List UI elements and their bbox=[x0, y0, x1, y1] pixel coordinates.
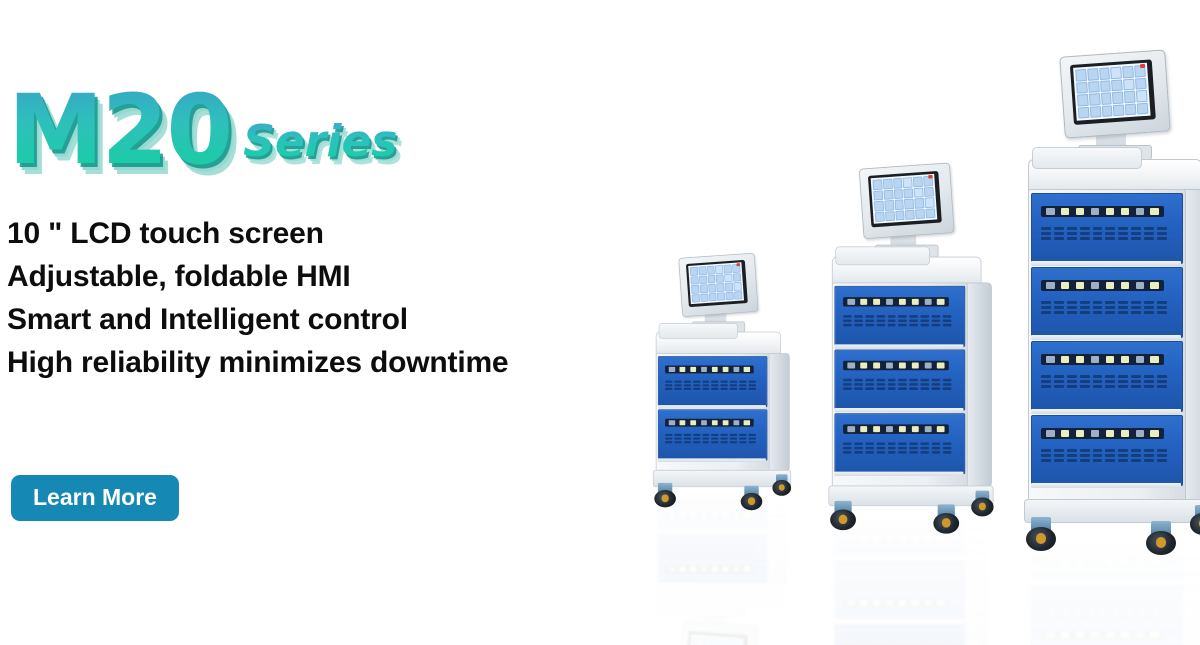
vent-hole bbox=[1093, 449, 1103, 452]
vent-hole bbox=[730, 502, 737, 504]
device-slot bbox=[1061, 356, 1069, 363]
keypad-key[interactable] bbox=[1090, 106, 1102, 118]
keypad-key[interactable] bbox=[690, 276, 698, 285]
vent-hole bbox=[932, 587, 941, 590]
vent-hole bbox=[910, 442, 919, 445]
vent-hole bbox=[702, 434, 709, 436]
drawer-rail bbox=[1031, 580, 1181, 585]
device-slot bbox=[1061, 557, 1069, 564]
keypad-key[interactable] bbox=[1100, 80, 1112, 92]
keypad-key[interactable] bbox=[716, 283, 724, 292]
vent-hole bbox=[1131, 459, 1141, 462]
ventilation-grid bbox=[843, 315, 951, 326]
keypad-key[interactable] bbox=[698, 266, 706, 275]
keypad-key[interactable] bbox=[709, 293, 717, 302]
vent-hole bbox=[1067, 454, 1077, 457]
vent-hole bbox=[887, 514, 896, 517]
device-slot bbox=[712, 367, 718, 372]
drawer-rail bbox=[658, 405, 766, 409]
keypad-key[interactable] bbox=[1111, 79, 1123, 91]
vent-hole bbox=[721, 552, 728, 554]
device-slot bbox=[912, 299, 919, 305]
vent-hole bbox=[1054, 227, 1064, 230]
device-slot bbox=[912, 363, 919, 369]
vent-hole bbox=[749, 441, 756, 443]
connector-strip bbox=[843, 534, 949, 543]
vent-hole bbox=[1118, 459, 1128, 462]
keypad-key[interactable] bbox=[708, 284, 716, 293]
ventilation-grid bbox=[665, 548, 756, 557]
vent-hole bbox=[1054, 606, 1064, 609]
vent-hole bbox=[749, 388, 756, 390]
vent-hole bbox=[865, 383, 874, 386]
vent-hole bbox=[712, 384, 719, 386]
charging-drawer[interactable] bbox=[1031, 193, 1183, 264]
keypad-key[interactable] bbox=[1076, 81, 1088, 93]
keypad-key[interactable] bbox=[884, 200, 894, 211]
vent-hole bbox=[1080, 375, 1090, 378]
vent-hole bbox=[943, 315, 952, 318]
keypad-key[interactable] bbox=[924, 186, 934, 197]
vent-hole bbox=[1093, 227, 1103, 230]
lcd-keypad[interactable] bbox=[1073, 63, 1151, 121]
vent-hole bbox=[739, 437, 746, 439]
vent-hole bbox=[1067, 306, 1077, 309]
vent-hole bbox=[854, 383, 863, 386]
keypad-key[interactable] bbox=[904, 188, 914, 199]
vent-hole bbox=[1144, 606, 1154, 609]
vent-hole bbox=[876, 319, 885, 322]
vent-hole bbox=[730, 381, 737, 383]
charging-drawer[interactable] bbox=[658, 356, 767, 407]
vent-hole bbox=[1118, 542, 1128, 545]
vent-hole bbox=[876, 442, 885, 445]
vent-hole bbox=[843, 379, 852, 382]
device-slot bbox=[680, 420, 686, 425]
vent-hole bbox=[674, 548, 681, 550]
learn-more-button[interactable]: Learn More bbox=[11, 475, 179, 521]
vent-hole bbox=[865, 642, 874, 645]
device-slot bbox=[1150, 631, 1158, 638]
vent-hole bbox=[1157, 449, 1167, 452]
keypad-key[interactable] bbox=[733, 282, 741, 291]
device-slot bbox=[680, 566, 686, 571]
drawer-rail bbox=[834, 344, 963, 348]
vent-hole bbox=[1157, 237, 1167, 240]
drawer-rail bbox=[834, 619, 963, 623]
vent-hole bbox=[899, 383, 908, 386]
device-slot bbox=[1121, 282, 1129, 289]
vent-hole bbox=[1157, 311, 1167, 314]
vent-hole bbox=[1093, 306, 1103, 309]
device-slot bbox=[937, 426, 944, 432]
keypad-key[interactable] bbox=[1077, 94, 1089, 106]
keypad-key[interactable] bbox=[925, 208, 935, 219]
vent-hole bbox=[1093, 385, 1103, 388]
device-slot bbox=[937, 600, 944, 606]
drawer-rail bbox=[658, 529, 766, 533]
caster-wheel-rear-right bbox=[772, 474, 791, 496]
vent-hole bbox=[899, 578, 908, 581]
lcd-keypad bbox=[688, 634, 744, 645]
vent-hole bbox=[702, 498, 709, 500]
device-slot bbox=[848, 536, 855, 542]
vent-hole bbox=[702, 548, 709, 550]
vent-hole bbox=[1157, 232, 1167, 235]
vent-hole bbox=[1144, 306, 1154, 309]
vent-hole bbox=[684, 555, 691, 557]
vent-hole bbox=[887, 383, 896, 386]
vent-hole bbox=[721, 498, 728, 500]
vent-hole bbox=[865, 519, 874, 522]
device-slot bbox=[899, 299, 906, 305]
keypad-key[interactable] bbox=[1123, 78, 1135, 90]
vent-hole bbox=[712, 555, 719, 557]
vent-hole bbox=[693, 381, 700, 383]
device-slot bbox=[886, 426, 893, 432]
device-slot bbox=[1091, 557, 1099, 564]
device-slot bbox=[899, 363, 906, 369]
vent-hole bbox=[887, 519, 896, 522]
keypad-key[interactable] bbox=[707, 266, 715, 275]
screen-bezel bbox=[686, 631, 748, 645]
vent-hole bbox=[932, 578, 941, 581]
device-slot bbox=[722, 420, 728, 425]
vent-hole bbox=[1157, 606, 1167, 609]
vent-hole bbox=[843, 587, 852, 590]
vent-hole bbox=[739, 434, 746, 436]
vent-hole bbox=[910, 383, 919, 386]
vent-hole bbox=[843, 578, 852, 581]
vent-hole bbox=[739, 388, 746, 390]
feature-item-3: Smart and Intelligent control bbox=[7, 298, 637, 341]
keypad-key[interactable] bbox=[875, 211, 885, 222]
vent-hole bbox=[665, 441, 672, 443]
keypad-key[interactable] bbox=[1113, 104, 1125, 116]
vent-hole bbox=[674, 441, 681, 443]
vent-hole bbox=[921, 642, 930, 645]
logo-model-text: M20 bbox=[8, 85, 235, 176]
vent-hole bbox=[932, 387, 941, 390]
vent-hole bbox=[1054, 232, 1064, 235]
device-slot bbox=[1091, 631, 1099, 638]
vent-hole bbox=[910, 582, 919, 585]
screen-bezel bbox=[1070, 59, 1156, 125]
vent-hole bbox=[1105, 380, 1115, 383]
device-slot bbox=[873, 600, 880, 606]
device-slot bbox=[848, 299, 855, 305]
vent-hole bbox=[854, 442, 863, 445]
keypad-key[interactable] bbox=[872, 179, 882, 190]
charging-drawer[interactable] bbox=[1031, 267, 1183, 338]
device-slot bbox=[873, 536, 880, 542]
vent-hole bbox=[1144, 232, 1154, 235]
keypad-key[interactable] bbox=[1135, 77, 1147, 89]
vent-hole bbox=[749, 555, 756, 557]
ventilation-grid bbox=[1041, 301, 1167, 314]
keypad-key[interactable] bbox=[873, 190, 883, 201]
keypad-key[interactable] bbox=[925, 197, 935, 208]
vent-hole bbox=[674, 384, 681, 386]
device-slot bbox=[899, 426, 906, 432]
vent-hole bbox=[684, 384, 691, 386]
vent-hole bbox=[865, 379, 874, 382]
vent-hole bbox=[693, 384, 700, 386]
vent-hole bbox=[887, 319, 896, 322]
device-slot bbox=[690, 420, 696, 425]
vent-hole bbox=[1144, 375, 1154, 378]
vent-hole bbox=[865, 582, 874, 585]
vent-hole bbox=[1093, 301, 1103, 304]
charging-drawer[interactable] bbox=[658, 409, 767, 460]
keypad-key[interactable] bbox=[690, 267, 698, 276]
charging-drawer[interactable] bbox=[834, 286, 965, 347]
vent-hole bbox=[702, 437, 709, 439]
device-slot bbox=[680, 513, 686, 518]
vent-hole bbox=[1041, 237, 1051, 240]
cart-top-rail bbox=[835, 246, 930, 265]
hmi-touch-screen[interactable] bbox=[678, 253, 758, 317]
vent-hole bbox=[921, 587, 930, 590]
keypad-key[interactable] bbox=[717, 292, 725, 301]
lcd-keypad[interactable] bbox=[871, 174, 938, 224]
vent-hole bbox=[1080, 227, 1090, 230]
device-slot bbox=[1046, 282, 1054, 289]
vent-hole bbox=[921, 319, 930, 322]
keypad-key[interactable] bbox=[733, 273, 741, 282]
keypad-key[interactable] bbox=[1137, 102, 1149, 114]
keypad-key[interactable] bbox=[885, 211, 895, 222]
keypad-key[interactable] bbox=[1112, 91, 1124, 103]
vent-hole bbox=[865, 447, 874, 450]
product-image-group bbox=[620, 0, 1200, 645]
vent-hole bbox=[702, 381, 709, 383]
vent-hole bbox=[876, 379, 885, 382]
vent-hole bbox=[932, 447, 941, 450]
vent-hole bbox=[1157, 375, 1167, 378]
vent-hole bbox=[721, 502, 728, 504]
vent-hole bbox=[712, 381, 719, 383]
vent-hole bbox=[1105, 237, 1115, 240]
device-slot bbox=[1121, 557, 1129, 564]
keypad-key[interactable] bbox=[1124, 91, 1136, 103]
vent-hole bbox=[910, 642, 919, 645]
vent-hole bbox=[943, 324, 952, 327]
vent-hole bbox=[1105, 311, 1115, 314]
keypad-key[interactable] bbox=[883, 189, 893, 200]
device-slot bbox=[1106, 356, 1114, 363]
device-slot bbox=[886, 536, 893, 542]
keypad-key[interactable] bbox=[1075, 69, 1087, 81]
keypad-key[interactable] bbox=[1089, 93, 1101, 105]
vent-hole bbox=[899, 324, 908, 327]
charging-drawer bbox=[834, 621, 965, 645]
screen-bezel bbox=[686, 260, 748, 307]
keypad-key[interactable] bbox=[715, 265, 723, 274]
vent-hole bbox=[684, 441, 691, 443]
keypad-key[interactable] bbox=[1101, 105, 1113, 117]
keypad-key[interactable] bbox=[895, 210, 905, 221]
keypad-key[interactable] bbox=[716, 274, 724, 283]
keypad-key[interactable] bbox=[883, 179, 893, 190]
vent-hole bbox=[1118, 616, 1128, 619]
device-slot bbox=[1106, 208, 1114, 215]
vent-hole bbox=[1157, 616, 1167, 619]
vent-hole bbox=[684, 434, 691, 436]
device-slot bbox=[722, 367, 728, 372]
vent-hole bbox=[865, 451, 874, 454]
vent-hole bbox=[865, 442, 874, 445]
device-slot bbox=[1121, 208, 1129, 215]
vent-hole bbox=[730, 552, 737, 554]
vent-hole bbox=[887, 582, 896, 585]
device-slot bbox=[912, 426, 919, 432]
keypad-key[interactable] bbox=[725, 282, 733, 291]
hmi-touch-screen[interactable] bbox=[1059, 49, 1170, 138]
device-slot bbox=[1106, 282, 1114, 289]
vent-hole bbox=[693, 437, 700, 439]
caster-wheel-front-left bbox=[1026, 517, 1056, 551]
vent-hole bbox=[712, 388, 719, 390]
vent-hole bbox=[899, 447, 908, 450]
vent-hole bbox=[721, 495, 728, 497]
keypad-key[interactable] bbox=[904, 199, 914, 210]
device-slot bbox=[1121, 430, 1129, 437]
keypad-key[interactable] bbox=[1088, 81, 1100, 93]
keypad-key[interactable] bbox=[707, 275, 715, 284]
drawer-rail bbox=[658, 458, 766, 462]
keypad-key[interactable] bbox=[700, 293, 708, 302]
vent-hole bbox=[739, 552, 746, 554]
device-slot bbox=[722, 513, 728, 518]
device-slot bbox=[690, 513, 696, 518]
vent-hole bbox=[943, 578, 952, 581]
vent-hole bbox=[730, 495, 737, 497]
charging-drawer[interactable] bbox=[834, 413, 965, 474]
charging-drawer[interactable] bbox=[1031, 415, 1183, 486]
keypad-key[interactable] bbox=[915, 198, 925, 209]
keypad-key[interactable] bbox=[1125, 103, 1137, 115]
device-slot bbox=[924, 426, 931, 432]
keypad-key[interactable] bbox=[1122, 66, 1134, 78]
vent-hole bbox=[684, 502, 691, 504]
keypad-key[interactable] bbox=[1111, 66, 1123, 78]
screen-hinge bbox=[692, 606, 745, 617]
keypad-key[interactable] bbox=[1099, 67, 1111, 79]
device-slot bbox=[860, 426, 867, 432]
keypad-key[interactable] bbox=[699, 275, 707, 284]
device-slot bbox=[1076, 282, 1084, 289]
vent-hole bbox=[1080, 459, 1090, 462]
device-slot bbox=[1076, 557, 1084, 564]
vent-hole bbox=[1118, 454, 1128, 457]
keypad-key[interactable] bbox=[913, 176, 923, 187]
device-slot bbox=[1046, 208, 1054, 215]
feature-list: 10 " LCD touch screen Adjustable, foldab… bbox=[7, 212, 637, 384]
vent-hole bbox=[1080, 385, 1090, 388]
keypad-key[interactable] bbox=[1078, 106, 1090, 118]
vent-hole bbox=[1093, 380, 1103, 383]
keypad-key[interactable] bbox=[903, 177, 913, 188]
lcd-keypad[interactable] bbox=[688, 262, 744, 304]
vent-hole bbox=[1067, 375, 1077, 378]
vent-hole bbox=[1131, 616, 1141, 619]
keypad-key[interactable] bbox=[1136, 90, 1148, 102]
keypad-key[interactable] bbox=[914, 187, 924, 198]
device-slot bbox=[733, 513, 739, 518]
vent-hole bbox=[865, 587, 874, 590]
vent-hole bbox=[1067, 301, 1077, 304]
keypad-key[interactable] bbox=[692, 294, 700, 303]
vent-hole bbox=[693, 552, 700, 554]
vent-hole bbox=[1144, 616, 1154, 619]
keypad-key[interactable] bbox=[724, 273, 732, 282]
vent-hole bbox=[910, 514, 919, 517]
vent-hole bbox=[712, 437, 719, 439]
keypad-key[interactable] bbox=[894, 189, 904, 200]
vent-hole bbox=[1118, 232, 1128, 235]
product-cart-1 bbox=[650, 224, 787, 467]
vent-hole bbox=[932, 324, 941, 327]
cart-top-shelf bbox=[656, 580, 781, 606]
charging-drawer[interactable] bbox=[1031, 341, 1183, 412]
vent-hole bbox=[865, 514, 874, 517]
vent-hole bbox=[910, 447, 919, 450]
device-slot bbox=[899, 536, 906, 542]
vent-hole bbox=[843, 582, 852, 585]
keypad-key[interactable] bbox=[726, 291, 734, 300]
device-slot bbox=[937, 299, 944, 305]
keypad-key[interactable] bbox=[734, 291, 742, 300]
vent-hole bbox=[910, 523, 919, 526]
vent-hole bbox=[1131, 611, 1141, 614]
keypad-key[interactable] bbox=[874, 201, 884, 212]
drawer-rail bbox=[1031, 409, 1181, 414]
vent-hole bbox=[1105, 454, 1115, 457]
keypad-key[interactable] bbox=[915, 209, 925, 220]
vent-hole bbox=[843, 387, 852, 390]
vent-hole bbox=[674, 434, 681, 436]
keypad-key[interactable] bbox=[1087, 68, 1099, 80]
keypad-key bbox=[700, 636, 708, 645]
ventilation-grid bbox=[1041, 227, 1167, 240]
vent-hole bbox=[712, 548, 719, 550]
device-slot bbox=[744, 367, 750, 372]
keypad-key[interactable] bbox=[691, 285, 699, 294]
keypad-key[interactable] bbox=[1101, 92, 1113, 104]
hmi-touch-screen[interactable] bbox=[859, 162, 955, 239]
charging-drawer[interactable] bbox=[834, 350, 965, 411]
keypad-key[interactable] bbox=[700, 284, 708, 293]
keypad-key[interactable] bbox=[905, 209, 915, 220]
device-slot bbox=[669, 420, 675, 425]
keypad-key[interactable] bbox=[894, 199, 904, 210]
vent-hole bbox=[684, 381, 691, 383]
vent-hole bbox=[702, 555, 709, 557]
vent-hole bbox=[921, 514, 930, 517]
connector-strip bbox=[843, 424, 949, 433]
device-slot bbox=[924, 600, 931, 606]
keypad-key[interactable] bbox=[893, 178, 903, 189]
keypad-key[interactable] bbox=[724, 264, 732, 273]
vent-hole bbox=[1054, 301, 1064, 304]
vent-hole bbox=[702, 495, 709, 497]
connector-strip bbox=[665, 565, 754, 573]
connector-strip bbox=[1041, 555, 1164, 566]
vent-hole bbox=[854, 587, 863, 590]
vent-hole bbox=[1144, 449, 1154, 452]
device-slot bbox=[712, 420, 718, 425]
